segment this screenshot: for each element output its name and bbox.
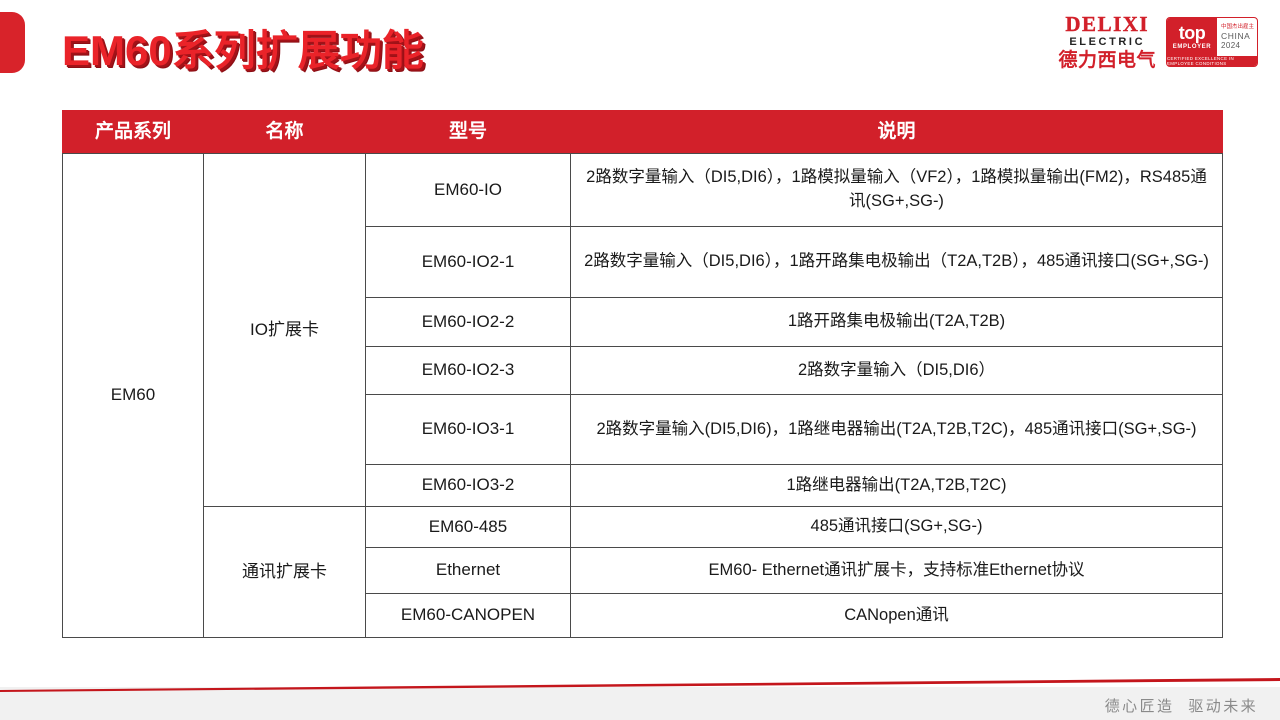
brand-logo-zone: DELIXI ELECTRIC 德力西电气 top EMPLOYER 中国杰出雇… bbox=[1058, 14, 1258, 70]
page-title: EM60系列扩展功能 bbox=[62, 17, 424, 78]
title-accent-bar bbox=[0, 12, 25, 73]
expansion-spec-table: 产品系列 名称 型号 说明 EM60 IO扩展卡 EM60-IO 2路数字量输入… bbox=[62, 110, 1223, 638]
slide-canvas: EM60系列扩展功能 DELIXI ELECTRIC 德力西电气 top EMP… bbox=[0, 0, 1280, 720]
top-employer-top-word: top bbox=[1179, 25, 1205, 42]
column-header-description: 说明 bbox=[571, 111, 1223, 154]
top-employer-employer-word: EMPLOYER bbox=[1173, 44, 1211, 50]
top-employer-badge-main: top EMPLOYER 中国杰出雇主 CHINA 2024 bbox=[1167, 18, 1257, 56]
cell-description: 2路数字量输入（DI5,DI6），1路模拟量输入（VF2），1路模拟量输出(FM… bbox=[571, 154, 1223, 227]
cell-model: EM60-IO bbox=[366, 154, 571, 227]
top-employer-mark: top EMPLOYER bbox=[1167, 18, 1217, 56]
cell-model: EM60-485 bbox=[366, 507, 571, 548]
footer-slogan-left: 德心匠造 bbox=[1105, 698, 1175, 715]
column-header-model: 型号 bbox=[366, 111, 571, 154]
cell-description: 485通讯接口(SG+,SG-) bbox=[571, 507, 1223, 548]
top-employer-country: CHINA bbox=[1221, 31, 1257, 41]
delixi-wordmark: DELIXI bbox=[1065, 14, 1149, 35]
cell-description: EM60- Ethernet通讯扩展卡，支持标准Ethernet协议 bbox=[571, 548, 1223, 594]
cell-description: 1路开路集电极输出(T2A,T2B) bbox=[571, 298, 1223, 347]
cell-group-name-comm: 通讯扩展卡 bbox=[204, 507, 366, 638]
cell-model: EM60-CANOPEN bbox=[366, 594, 571, 638]
cell-product-series: EM60 bbox=[63, 154, 204, 638]
cell-model: Ethernet bbox=[366, 548, 571, 594]
table-header-row: 产品系列 名称 型号 说明 bbox=[63, 111, 1223, 154]
table-row: 通讯扩展卡 EM60-485 485通讯接口(SG+,SG-) bbox=[63, 507, 1223, 548]
cell-model: EM60-IO3-1 bbox=[366, 395, 571, 465]
table-header: 产品系列 名称 型号 说明 bbox=[63, 111, 1223, 154]
cell-model: EM60-IO2-1 bbox=[366, 227, 571, 298]
delixi-subtitle: ELECTRIC bbox=[1069, 37, 1145, 48]
column-header-product-series: 产品系列 bbox=[63, 111, 204, 154]
top-employer-details: 中国杰出雇主 CHINA 2024 bbox=[1217, 18, 1257, 56]
cell-model: EM60-IO2-3 bbox=[366, 347, 571, 395]
footer-slogan: 德心匠造驱动未来 bbox=[1105, 695, 1258, 716]
cell-description: 2路数字量输入（DI5,DI6），1路开路集电极输出（T2A,T2B），485通… bbox=[571, 227, 1223, 298]
cell-description: CANopen通讯 bbox=[571, 594, 1223, 638]
cell-model: EM60-IO3-2 bbox=[366, 465, 571, 507]
cell-model: EM60-IO2-2 bbox=[366, 298, 571, 347]
top-employer-certification: CERTIFIED EXCELLENCE IN EMPLOYEE CONDITI… bbox=[1167, 56, 1257, 66]
delixi-chinese-name: 德力西电气 bbox=[1058, 51, 1156, 70]
top-employer-badge: top EMPLOYER 中国杰出雇主 CHINA 2024 CERTIFIED… bbox=[1166, 17, 1258, 67]
table-row: EM60 IO扩展卡 EM60-IO 2路数字量输入（DI5,DI6），1路模拟… bbox=[63, 154, 1223, 227]
footer-red-rule bbox=[0, 678, 1280, 692]
cell-group-name-io: IO扩展卡 bbox=[204, 154, 366, 507]
cell-description: 2路数字量输入（DI5,DI6） bbox=[571, 347, 1223, 395]
delixi-logo: DELIXI ELECTRIC 德力西电气 bbox=[1058, 14, 1156, 70]
top-employer-year: 2024 bbox=[1221, 41, 1257, 50]
cell-description: 2路数字量输入(DI5,DI6)，1路继电器输出(T2A,T2B,T2C)，48… bbox=[571, 395, 1223, 465]
column-header-name: 名称 bbox=[204, 111, 366, 154]
footer-slogan-right: 驱动未来 bbox=[1188, 698, 1258, 715]
table-body: EM60 IO扩展卡 EM60-IO 2路数字量输入（DI5,DI6），1路模拟… bbox=[63, 154, 1223, 638]
cell-description: 1路继电器输出(T2A,T2B,T2C) bbox=[571, 465, 1223, 507]
